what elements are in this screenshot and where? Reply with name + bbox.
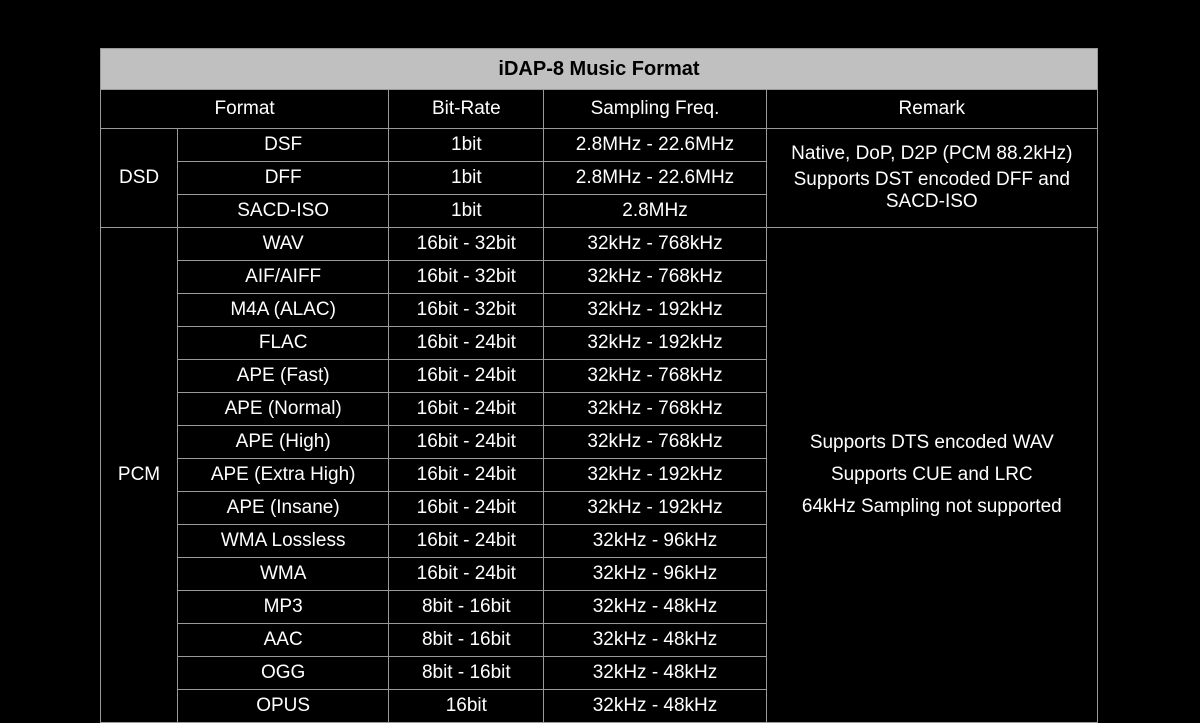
table-row: PCM WAV 16bit - 32bit 32kHz - 768kHz Sup… (101, 228, 1098, 261)
remark-line: Native, DoP, D2P (PCM 88.2kHz) (767, 141, 1097, 167)
category-label-pcm: PCM (101, 228, 178, 723)
column-header-format: Format (101, 90, 389, 129)
format-cell: AAC (178, 624, 389, 657)
remark-line: Supports DST encoded DFF and SACD-ISO (767, 167, 1097, 215)
format-cell: APE (Insane) (178, 492, 389, 525)
format-cell: APE (Fast) (178, 360, 389, 393)
sampling-freq-cell: 32kHz - 48kHz (544, 624, 766, 657)
sampling-freq-cell: 32kHz - 192kHz (544, 459, 766, 492)
sampling-freq-cell: 32kHz - 48kHz (544, 657, 766, 690)
bit-rate-cell: 8bit - 16bit (389, 624, 544, 657)
spec-table-container: iDAP-8 Music Format Format Bit-Rate Samp… (100, 48, 1098, 694)
sampling-freq-cell: 32kHz - 192kHz (544, 492, 766, 525)
sampling-freq-cell: 32kHz - 96kHz (544, 525, 766, 558)
sampling-freq-cell: 32kHz - 768kHz (544, 228, 766, 261)
bit-rate-cell: 8bit - 16bit (389, 657, 544, 690)
bit-rate-cell: 16bit - 24bit (389, 426, 544, 459)
music-format-spec-table: iDAP-8 Music Format Format Bit-Rate Samp… (100, 48, 1098, 723)
sampling-freq-cell: 32kHz - 768kHz (544, 360, 766, 393)
sampling-freq-cell: 32kHz - 768kHz (544, 261, 766, 294)
format-cell: APE (Normal) (178, 393, 389, 426)
column-header-bit-rate: Bit-Rate (389, 90, 544, 129)
bit-rate-cell: 16bit - 24bit (389, 393, 544, 426)
remark-cell-pcm: Supports DTS encoded WAV Supports CUE an… (766, 228, 1097, 723)
format-cell: DFF (178, 162, 389, 195)
format-cell: FLAC (178, 327, 389, 360)
sampling-freq-cell: 2.8MHz - 22.6MHz (544, 162, 766, 195)
sampling-freq-cell: 32kHz - 768kHz (544, 393, 766, 426)
bit-rate-cell: 1bit (389, 162, 544, 195)
format-cell: DSF (178, 129, 389, 162)
column-header-remark: Remark (766, 90, 1097, 129)
sampling-freq-cell: 32kHz - 768kHz (544, 426, 766, 459)
table-header-row: Format Bit-Rate Sampling Freq. Remark (101, 90, 1098, 129)
remark-line: Supports CUE and LRC (767, 459, 1097, 491)
bit-rate-cell: 16bit - 24bit (389, 327, 544, 360)
category-label-dsd: DSD (101, 129, 178, 228)
bit-rate-cell: 16bit - 24bit (389, 558, 544, 591)
format-cell: WMA (178, 558, 389, 591)
bit-rate-cell: 16bit (389, 690, 544, 723)
bit-rate-cell: 16bit - 24bit (389, 492, 544, 525)
format-cell: M4A (ALAC) (178, 294, 389, 327)
remark-line: 64kHz Sampling not supported (767, 491, 1097, 523)
format-cell: SACD-ISO (178, 195, 389, 228)
format-cell: WAV (178, 228, 389, 261)
bit-rate-cell: 8bit - 16bit (389, 591, 544, 624)
page-title: iDAP-8 Music Format (101, 49, 1098, 90)
table-title-row: iDAP-8 Music Format (101, 49, 1098, 90)
bit-rate-cell: 16bit - 24bit (389, 360, 544, 393)
table-row: DSD DSF 1bit 2.8MHz - 22.6MHz Native, Do… (101, 129, 1098, 162)
format-cell: OPUS (178, 690, 389, 723)
format-cell: WMA Lossless (178, 525, 389, 558)
sampling-freq-cell: 32kHz - 96kHz (544, 558, 766, 591)
format-cell: APE (Extra High) (178, 459, 389, 492)
remark-cell-dsd: Native, DoP, D2P (PCM 88.2kHz) Supports … (766, 129, 1097, 228)
bit-rate-cell: 16bit - 32bit (389, 294, 544, 327)
format-cell: APE (High) (178, 426, 389, 459)
spec-table-body: iDAP-8 Music Format Format Bit-Rate Samp… (101, 49, 1098, 723)
format-cell: MP3 (178, 591, 389, 624)
sampling-freq-cell: 32kHz - 48kHz (544, 591, 766, 624)
bit-rate-cell: 16bit - 24bit (389, 525, 544, 558)
bit-rate-cell: 1bit (389, 129, 544, 162)
sampling-freq-cell: 32kHz - 48kHz (544, 690, 766, 723)
bit-rate-cell: 1bit (389, 195, 544, 228)
format-cell: AIF/AIFF (178, 261, 389, 294)
sampling-freq-cell: 2.8MHz - 22.6MHz (544, 129, 766, 162)
sampling-freq-cell: 32kHz - 192kHz (544, 327, 766, 360)
sampling-freq-cell: 32kHz - 192kHz (544, 294, 766, 327)
bit-rate-cell: 16bit - 32bit (389, 261, 544, 294)
remark-line: Supports DTS encoded WAV (767, 427, 1097, 459)
column-header-sampling-freq: Sampling Freq. (544, 90, 766, 129)
sampling-freq-cell: 2.8MHz (544, 195, 766, 228)
format-cell: OGG (178, 657, 389, 690)
bit-rate-cell: 16bit - 32bit (389, 228, 544, 261)
bit-rate-cell: 16bit - 24bit (389, 459, 544, 492)
